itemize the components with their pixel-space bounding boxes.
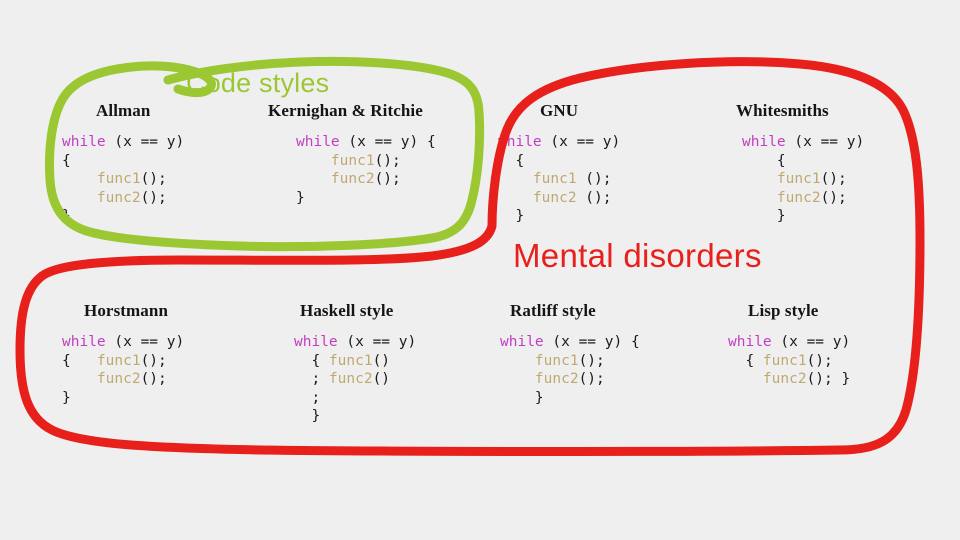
code-token bbox=[742, 171, 777, 187]
code-style-card-kernighan-ritchie: Kernighan & Ritchie while (x == y) { fun… bbox=[268, 102, 480, 207]
code-token bbox=[498, 190, 533, 206]
code-token bbox=[498, 171, 533, 187]
code-token: () bbox=[373, 371, 390, 387]
code-token: (); bbox=[579, 371, 605, 387]
code-token: (); bbox=[577, 190, 612, 206]
code-token: } bbox=[62, 208, 71, 224]
code-token: ; bbox=[294, 390, 320, 406]
slide-canvas: Allman while (x == y) { func1(); func2()… bbox=[0, 0, 960, 540]
code-style-card-ratliff: Ratliff style while (x == y) { func1(); … bbox=[500, 302, 710, 407]
code-style-card-lisp: Lisp style while (x == y) { func1(); fun… bbox=[710, 302, 920, 389]
code-block-gnu: while (x == y) { func1 (); func2 (); } bbox=[498, 133, 698, 226]
code-token: func1 bbox=[763, 353, 807, 369]
card-title-gnu: GNU bbox=[498, 102, 698, 119]
code-token: func2 bbox=[331, 171, 375, 187]
code-token: } bbox=[742, 208, 786, 224]
code-token: () bbox=[373, 353, 390, 369]
code-token: func1 bbox=[533, 171, 577, 187]
code-token: while bbox=[500, 334, 544, 350]
code-token: func1 bbox=[97, 353, 141, 369]
code-token: (); bbox=[375, 153, 401, 169]
code-token: func1 bbox=[535, 353, 579, 369]
code-block-horstmann: while (x == y) { func1(); func2(); } bbox=[62, 333, 262, 407]
code-token: func1 bbox=[331, 153, 375, 169]
code-token: (); bbox=[577, 171, 612, 187]
code-token bbox=[62, 171, 97, 187]
code-token: (x == y) { bbox=[340, 134, 436, 150]
annotation-ink-layer bbox=[0, 0, 960, 540]
code-block-kernighan-ritchie: while (x == y) { func1(); func2(); } bbox=[268, 133, 480, 207]
code-block-ratliff: while (x == y) { func1(); func2(); } bbox=[500, 333, 710, 407]
code-token: (x == y) bbox=[542, 134, 621, 150]
code-token bbox=[742, 190, 777, 206]
card-title-whitesmiths: Whitesmiths bbox=[724, 102, 934, 119]
code-token: (); bbox=[141, 171, 167, 187]
code-token: { bbox=[294, 353, 329, 369]
card-title-kernighan-ritchie: Kernighan & Ritchie bbox=[268, 102, 480, 119]
code-token: while bbox=[742, 134, 786, 150]
code-style-card-horstmann: Horstmann while (x == y) { func1(); func… bbox=[62, 302, 262, 407]
card-title-haskell: Haskell style bbox=[288, 302, 488, 319]
code-token: func1 bbox=[97, 171, 141, 187]
annotation-label-mental-disorders: Mental disorders bbox=[513, 239, 762, 272]
code-token: (x == y) bbox=[772, 334, 851, 350]
code-token: } bbox=[498, 208, 524, 224]
code-token: (x == y) bbox=[786, 134, 865, 150]
code-token: while bbox=[498, 134, 542, 150]
code-token: (); bbox=[375, 171, 401, 187]
code-token: func1 bbox=[329, 353, 373, 369]
code-token: func1 bbox=[777, 171, 821, 187]
code-token: func2 bbox=[97, 371, 141, 387]
code-token: (); bbox=[821, 171, 847, 187]
code-token: while bbox=[62, 134, 106, 150]
code-token: { bbox=[62, 153, 71, 169]
code-token: func2 bbox=[535, 371, 579, 387]
code-token: func2 bbox=[329, 371, 373, 387]
card-title-horstmann: Horstmann bbox=[62, 302, 262, 319]
code-token bbox=[62, 190, 97, 206]
code-block-whitesmiths: while (x == y) { func1(); func2(); } bbox=[724, 133, 934, 226]
code-token: (); bbox=[141, 190, 167, 206]
annotation-label-code-styles: Code styles bbox=[186, 70, 329, 97]
code-token: func2 bbox=[777, 190, 821, 206]
code-token: while bbox=[294, 334, 338, 350]
code-token: (); bbox=[141, 353, 167, 369]
code-token: } bbox=[62, 390, 71, 406]
code-token: { bbox=[728, 353, 763, 369]
code-token: while bbox=[62, 334, 106, 350]
code-token: } bbox=[500, 390, 544, 406]
code-token: while bbox=[296, 134, 340, 150]
code-token: { bbox=[498, 153, 524, 169]
code-token: (); } bbox=[807, 371, 851, 387]
card-title-lisp: Lisp style bbox=[710, 302, 920, 319]
code-token bbox=[500, 353, 535, 369]
code-token: (); bbox=[821, 190, 847, 206]
code-token: ; bbox=[294, 371, 329, 387]
code-token: { bbox=[62, 353, 97, 369]
card-title-ratliff: Ratliff style bbox=[500, 302, 710, 319]
code-token bbox=[296, 153, 331, 169]
code-block-haskell: while (x == y) { func1() ; func2() ; } bbox=[288, 333, 488, 426]
code-style-card-haskell: Haskell style while (x == y) { func1() ;… bbox=[288, 302, 488, 426]
code-token: } bbox=[294, 408, 320, 424]
code-token: func2 bbox=[97, 190, 141, 206]
code-token bbox=[296, 171, 331, 187]
code-style-card-allman: Allman while (x == y) { func1(); func2()… bbox=[62, 102, 262, 226]
code-block-lisp: while (x == y) { func1(); func2(); } bbox=[710, 333, 920, 389]
code-token bbox=[728, 371, 763, 387]
code-token: (); bbox=[579, 353, 605, 369]
card-title-allman: Allman bbox=[62, 102, 262, 119]
code-style-card-gnu: GNU while (x == y) { func1 (); func2 ();… bbox=[498, 102, 698, 226]
code-token: func2 bbox=[533, 190, 577, 206]
code-token: (x == y) bbox=[106, 334, 185, 350]
code-token: (); bbox=[141, 371, 167, 387]
code-token: { bbox=[742, 153, 786, 169]
code-token: (x == y) bbox=[338, 334, 417, 350]
code-token: } bbox=[296, 190, 305, 206]
code-token: func2 bbox=[763, 371, 807, 387]
code-token: while bbox=[728, 334, 772, 350]
code-token: (x == y) bbox=[106, 134, 185, 150]
code-token: (); bbox=[807, 353, 833, 369]
code-style-card-whitesmiths: Whitesmiths while (x == y) { func1(); fu… bbox=[724, 102, 934, 226]
code-block-allman: while (x == y) { func1(); func2(); } bbox=[62, 133, 262, 226]
code-token bbox=[62, 371, 97, 387]
code-token bbox=[500, 371, 535, 387]
code-token: (x == y) { bbox=[544, 334, 640, 350]
